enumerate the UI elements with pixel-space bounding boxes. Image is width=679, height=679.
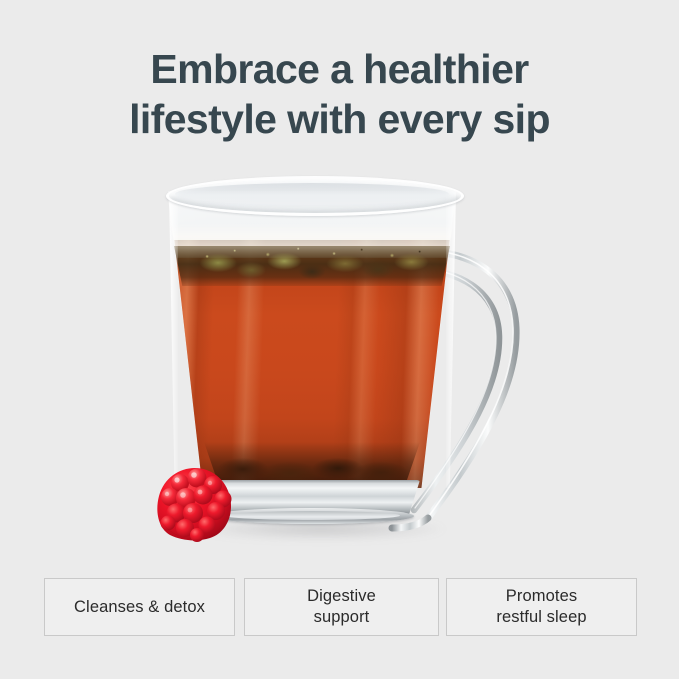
benefit-badge-label: Digestive support: [307, 586, 376, 628]
benefit-badge-digestive-support[interactable]: Digestive support: [244, 578, 439, 636]
headline-line-2: lifestyle with every sip: [0, 94, 679, 144]
page-title: Embrace a healthier lifestyle with every…: [0, 44, 679, 144]
mug-base-foot-inner: [224, 511, 400, 520]
raspberry: [154, 465, 236, 543]
product-banner: Embrace a healthier lifestyle with every…: [0, 0, 679, 679]
benefit-badge-restful-sleep[interactable]: Promotes restful sleep: [446, 578, 637, 636]
herb-specks: [174, 242, 450, 290]
product-photo: [0, 150, 679, 560]
benefit-badge-label: Cleanses & detox: [74, 597, 205, 618]
glass-edge-right: [446, 192, 456, 488]
tea-sediment: [204, 442, 420, 486]
benefit-badges: Cleanses & detox Digestive support Promo…: [44, 578, 637, 638]
benefit-badge-cleanses-detox[interactable]: Cleanses & detox: [44, 578, 235, 636]
mug-rim-inner-lip: [175, 183, 449, 205]
headline-line-1: Embrace a healthier: [0, 44, 679, 94]
benefit-badge-label: Promotes restful sleep: [496, 586, 586, 628]
glass-edge-left: [169, 192, 178, 488]
